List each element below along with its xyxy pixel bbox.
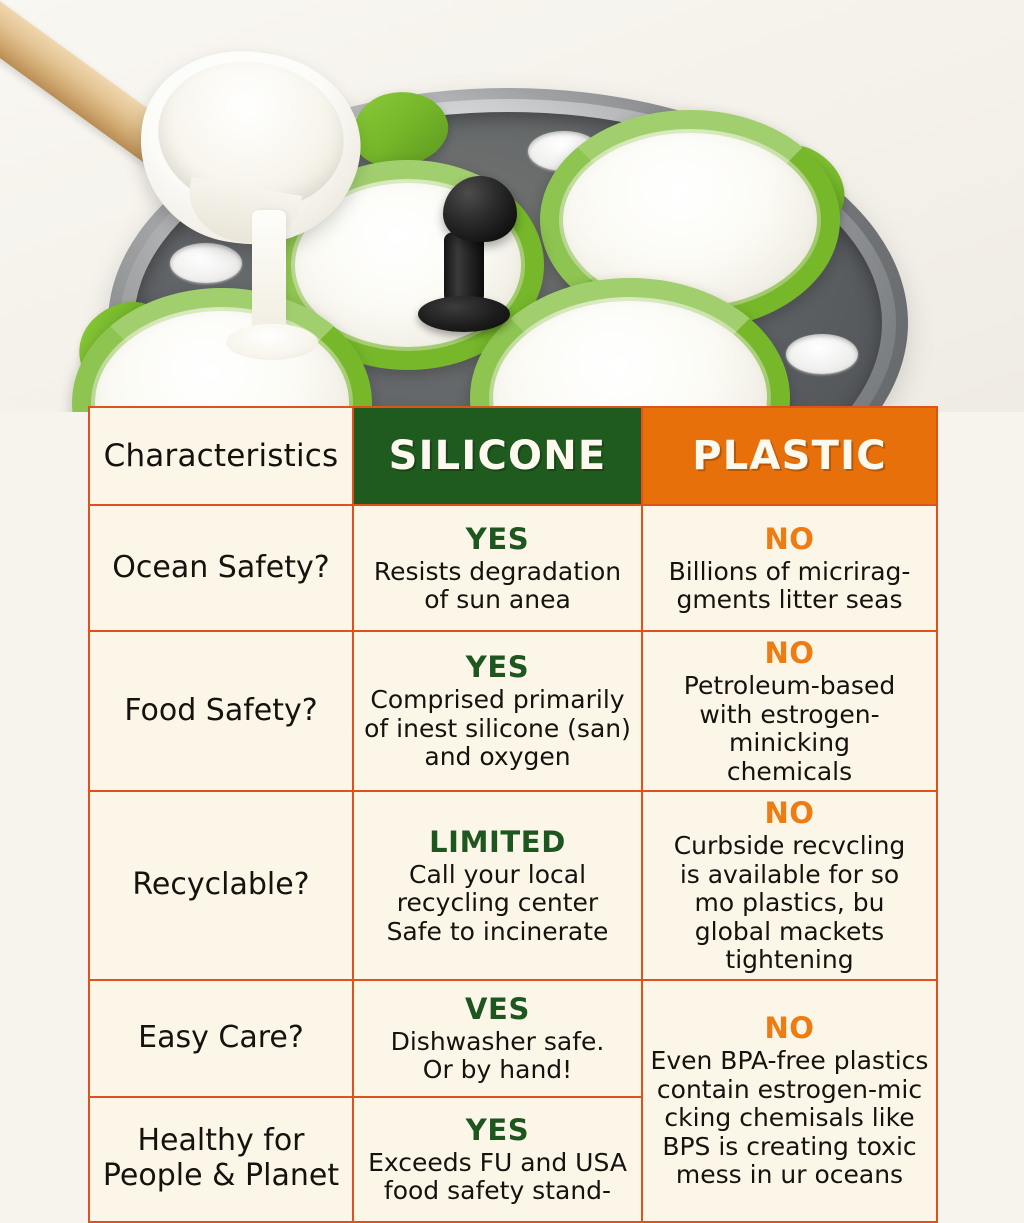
pancake-batter: [489, 297, 771, 412]
row-plastic-cell: NO Even BPA-free plasticscontain estroge…: [642, 980, 937, 1222]
verdict-badge: NO: [649, 796, 930, 830]
verdict-detail: Call your localrecycling centerSafe to i…: [360, 861, 635, 947]
product-photo: [0, 0, 1024, 412]
row-silicone-cell: VES Dishwasher safe.Or by hand!: [353, 980, 642, 1097]
silicone-vs-plastic-table: Characteristics SILICONE PLASTIC Ocean S…: [88, 406, 938, 1223]
header-characteristics: Characteristics: [89, 407, 353, 505]
verdict-detail: Dishwasher safe.Or by hand!: [360, 1028, 635, 1085]
row-plastic-cell: NO Billions of micrirag-gments litter se…: [642, 505, 937, 631]
verdict-detail: Even BPA-free plasticscontain estrogen-m…: [649, 1047, 930, 1190]
header-silicone: SILICONE: [353, 407, 642, 505]
verdict-badge: YES: [360, 650, 635, 684]
row-silicone-cell: YES Resists degradationof sun anea: [353, 505, 642, 631]
row-characteristic: Food Safety?: [89, 631, 353, 791]
lid-knob-base: [418, 296, 510, 332]
comparison-table-wrapper: Characteristics SILICONE PLASTIC Ocean S…: [88, 406, 936, 1223]
pan-steam-hole: [786, 334, 858, 374]
header-plastic: PLASTIC: [642, 407, 937, 505]
table-row: Easy Care? VES Dishwasher safe.Or by han…: [89, 980, 937, 1097]
verdict-detail: Billions of micrirag-gments litter seas: [649, 558, 930, 615]
pan-steam-hole: [170, 243, 242, 283]
verdict-badge: NO: [649, 522, 930, 556]
verdict-badge: VES: [360, 992, 635, 1026]
batter-pool: [226, 324, 318, 360]
verdict-detail: Curbside recvclingis available for somo …: [649, 832, 930, 975]
verdict-detail: Exceeds FU and USAfood safety stand-: [360, 1149, 635, 1206]
verdict-detail: Petroleum-basedwith estrogen-minickingch…: [649, 672, 930, 786]
verdict-detail: Comprised primarilyof inest silicone (sa…: [360, 686, 635, 772]
verdict-badge: YES: [360, 1113, 635, 1147]
row-plastic-cell: NO Curbside recvclingis available for so…: [642, 791, 937, 980]
verdict-badge: LIMITED: [360, 825, 635, 859]
table-header-row: Characteristics SILICONE PLASTIC: [89, 407, 937, 505]
row-plastic-cell: NO Petroleum-basedwith estrogen-minickin…: [642, 631, 937, 791]
row-characteristic: Ocean Safety?: [89, 505, 353, 631]
table-row: Recyclable? LIMITED Call your localrecyc…: [89, 791, 937, 980]
row-characteristic: Recyclable?: [89, 791, 353, 980]
verdict-detail: Resists degradationof sun anea: [360, 558, 635, 615]
verdict-badge: NO: [649, 1011, 930, 1045]
table-row: Ocean Safety? YES Resists degradationof …: [89, 505, 937, 631]
row-silicone-cell: LIMITED Call your localrecycling centerS…: [353, 791, 642, 980]
verdict-badge: YES: [360, 522, 635, 556]
pancake-batter: [91, 307, 353, 412]
row-characteristic: Healthy forPeople & Planet: [89, 1097, 353, 1222]
row-characteristic: Easy Care?: [89, 980, 353, 1097]
row-silicone-cell: YES Comprised primarilyof inest silicone…: [353, 631, 642, 791]
table-row: Food Safety? YES Comprised primarilyof i…: [89, 631, 937, 791]
row-silicone-cell: YES Exceeds FU and USAfood safety stand-: [353, 1097, 642, 1222]
verdict-badge: NO: [649, 636, 930, 670]
photo-scene: [0, 0, 1024, 412]
